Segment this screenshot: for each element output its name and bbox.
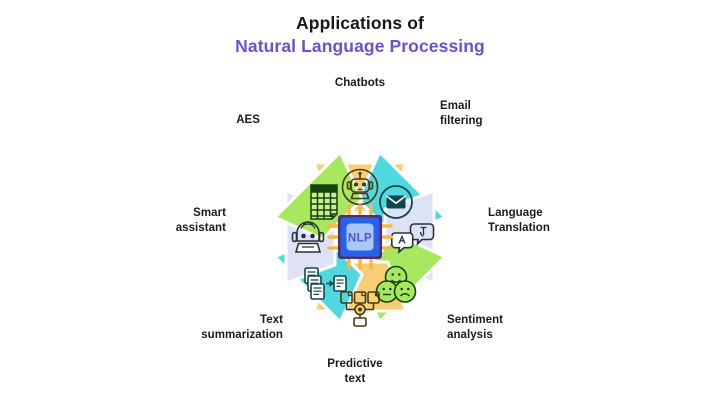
- label-smart-assistant: Smart assistant: [136, 206, 226, 235]
- title-line-1: Applications of: [0, 12, 720, 34]
- title-line-2: Natural Language Processing: [0, 34, 720, 58]
- label-email-filtering: Email filtering: [440, 99, 540, 128]
- infographic-page: Applications of Natural Language Process…: [0, 0, 720, 404]
- label-text-summarization: Text summarization: [173, 313, 283, 342]
- label-chatbots: Chatbots: [300, 76, 420, 91]
- spreadsheet-grid-icon: [311, 185, 337, 219]
- page-title: Applications of Natural Language Process…: [0, 12, 720, 58]
- chip-label: NLP: [348, 233, 372, 245]
- label-language-translation: Language Translation: [488, 206, 594, 235]
- label-aes: AES: [180, 113, 260, 128]
- label-predictive-text: Predictive text: [295, 357, 415, 386]
- nlp-applications-wheel: NLP: [200, 82, 520, 392]
- label-sentiment-analysis: Sentiment analysis: [447, 313, 547, 342]
